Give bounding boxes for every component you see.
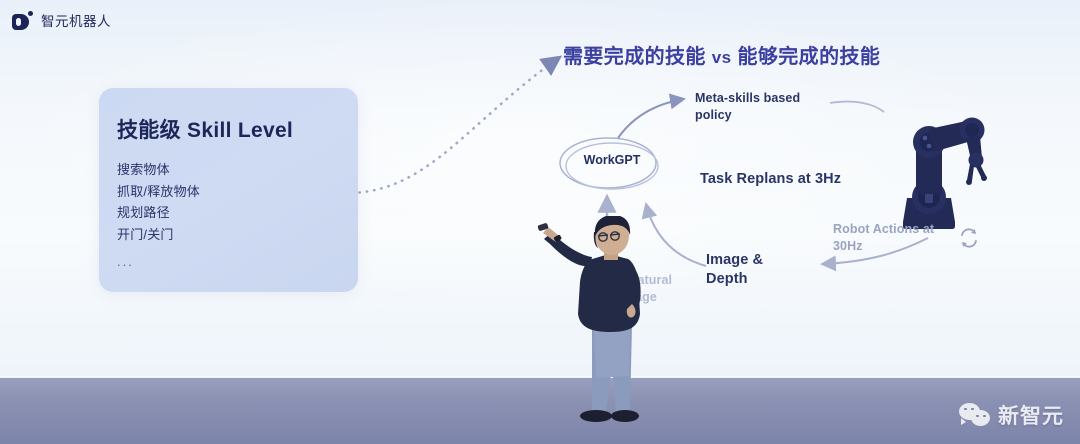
speaker-person bbox=[534, 216, 684, 438]
brand-logo: 智元机器人 bbox=[12, 10, 111, 30]
brand-name: 智元机器人 bbox=[41, 10, 111, 30]
robot-actions-label: Robot Actions at 30Hz bbox=[833, 221, 934, 254]
watermark: 新智元 bbox=[959, 400, 1064, 430]
card-title: 技能级 Skill Level bbox=[117, 114, 358, 144]
robot-actions-line-1: Robot Actions at bbox=[833, 221, 934, 238]
headline-left: 需要完成的技能 bbox=[563, 46, 706, 68]
skill-level-card: 技能级 Skill Level 搜索物体 抓取/释放物体 规划路径 开门/关门 … bbox=[99, 88, 358, 292]
image-depth-label: Image & Depth bbox=[706, 251, 763, 289]
skill-item-4: 开门/关门 bbox=[117, 224, 358, 246]
meta-skills-line-2: policy bbox=[695, 107, 800, 124]
skill-item-1: 搜索物体 bbox=[117, 159, 358, 181]
robot-brand-icon bbox=[12, 11, 33, 30]
workgpt-node-label: WorkGPT bbox=[574, 153, 650, 167]
wechat-icon bbox=[959, 403, 991, 428]
robot-actions-line-2: 30Hz bbox=[833, 238, 934, 255]
task-replans-label: Task Replans at 3Hz bbox=[700, 171, 841, 188]
meta-skills-policy-label: Meta-skills based policy bbox=[695, 90, 800, 123]
skill-item-2: 抓取/释放物体 bbox=[117, 181, 358, 203]
skill-item-ellipsis: ... bbox=[117, 254, 358, 269]
watermark-text: 新智元 bbox=[998, 400, 1064, 430]
refresh-loop-icon bbox=[956, 225, 982, 251]
image-depth-line-1: Image & bbox=[706, 251, 763, 270]
meta-skills-line-1: Meta-skills based bbox=[695, 90, 800, 107]
image-depth-line-2: Depth bbox=[706, 270, 763, 289]
robot-arm-icon bbox=[885, 102, 995, 237]
headline-right: 能够完成的技能 bbox=[737, 46, 880, 68]
slide-headline: 需要完成的技能 vs 能够完成的技能 bbox=[563, 40, 880, 69]
headline-vs: vs bbox=[712, 48, 732, 67]
skill-item-3: 规划路径 bbox=[117, 202, 358, 224]
